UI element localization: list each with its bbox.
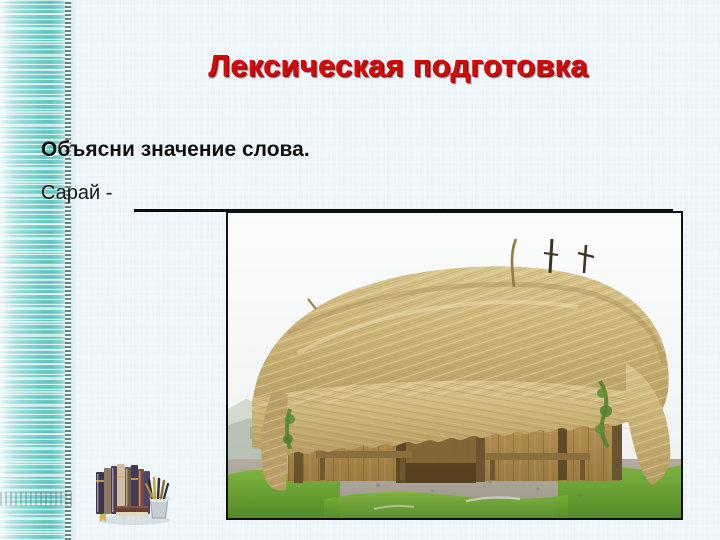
books-clipart-svg (86, 454, 178, 526)
barn-photo-svg (228, 213, 681, 518)
photo-frame (226, 211, 683, 520)
slide-canvas: Лексическая подготовка Объясни значение … (0, 0, 720, 540)
instruction-text: Объясни значение слова. (41, 138, 310, 162)
books-and-pencils-icon (86, 454, 178, 526)
page-title: Лексическая подготовка (76, 48, 720, 84)
vocabulary-word: Сарай - (41, 182, 112, 205)
band-bottom-smudge (0, 492, 74, 506)
barn-photo (228, 213, 681, 518)
left-decorative-band (0, 0, 76, 540)
